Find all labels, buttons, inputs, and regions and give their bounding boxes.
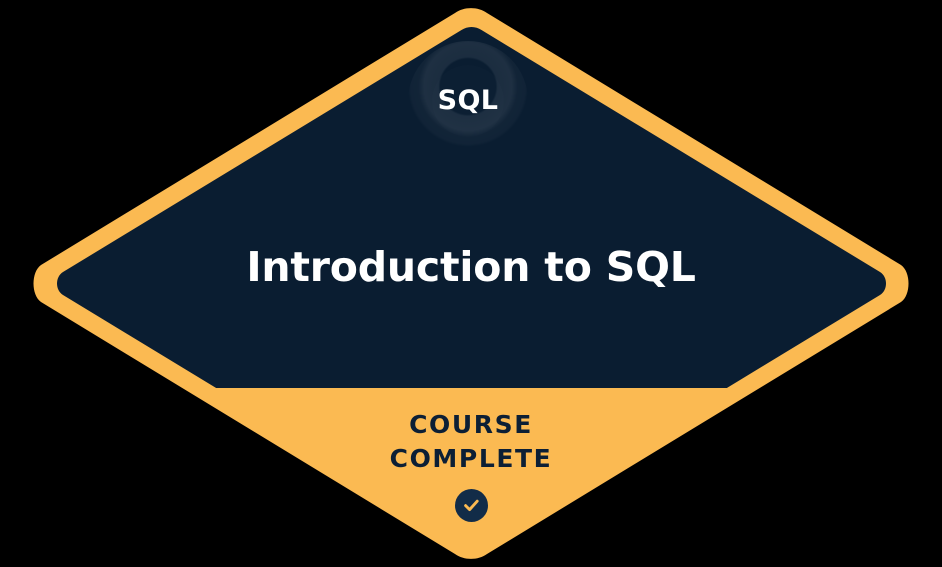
status-line-1: COURSE xyxy=(0,408,942,442)
status-line-2: COMPLETE xyxy=(0,442,942,476)
subject-label: SQL xyxy=(438,87,499,114)
course-status-block: COURSE COMPLETE xyxy=(0,408,942,522)
check-circle-icon xyxy=(455,489,488,522)
course-title: Introduction to SQL xyxy=(0,244,942,291)
course-complete-badge[interactable]: SQL Introduction to SQL COURSE COMPLETE xyxy=(0,0,942,567)
subject-ring-badge: SQL xyxy=(408,41,528,161)
check-mark-icon xyxy=(462,496,481,515)
